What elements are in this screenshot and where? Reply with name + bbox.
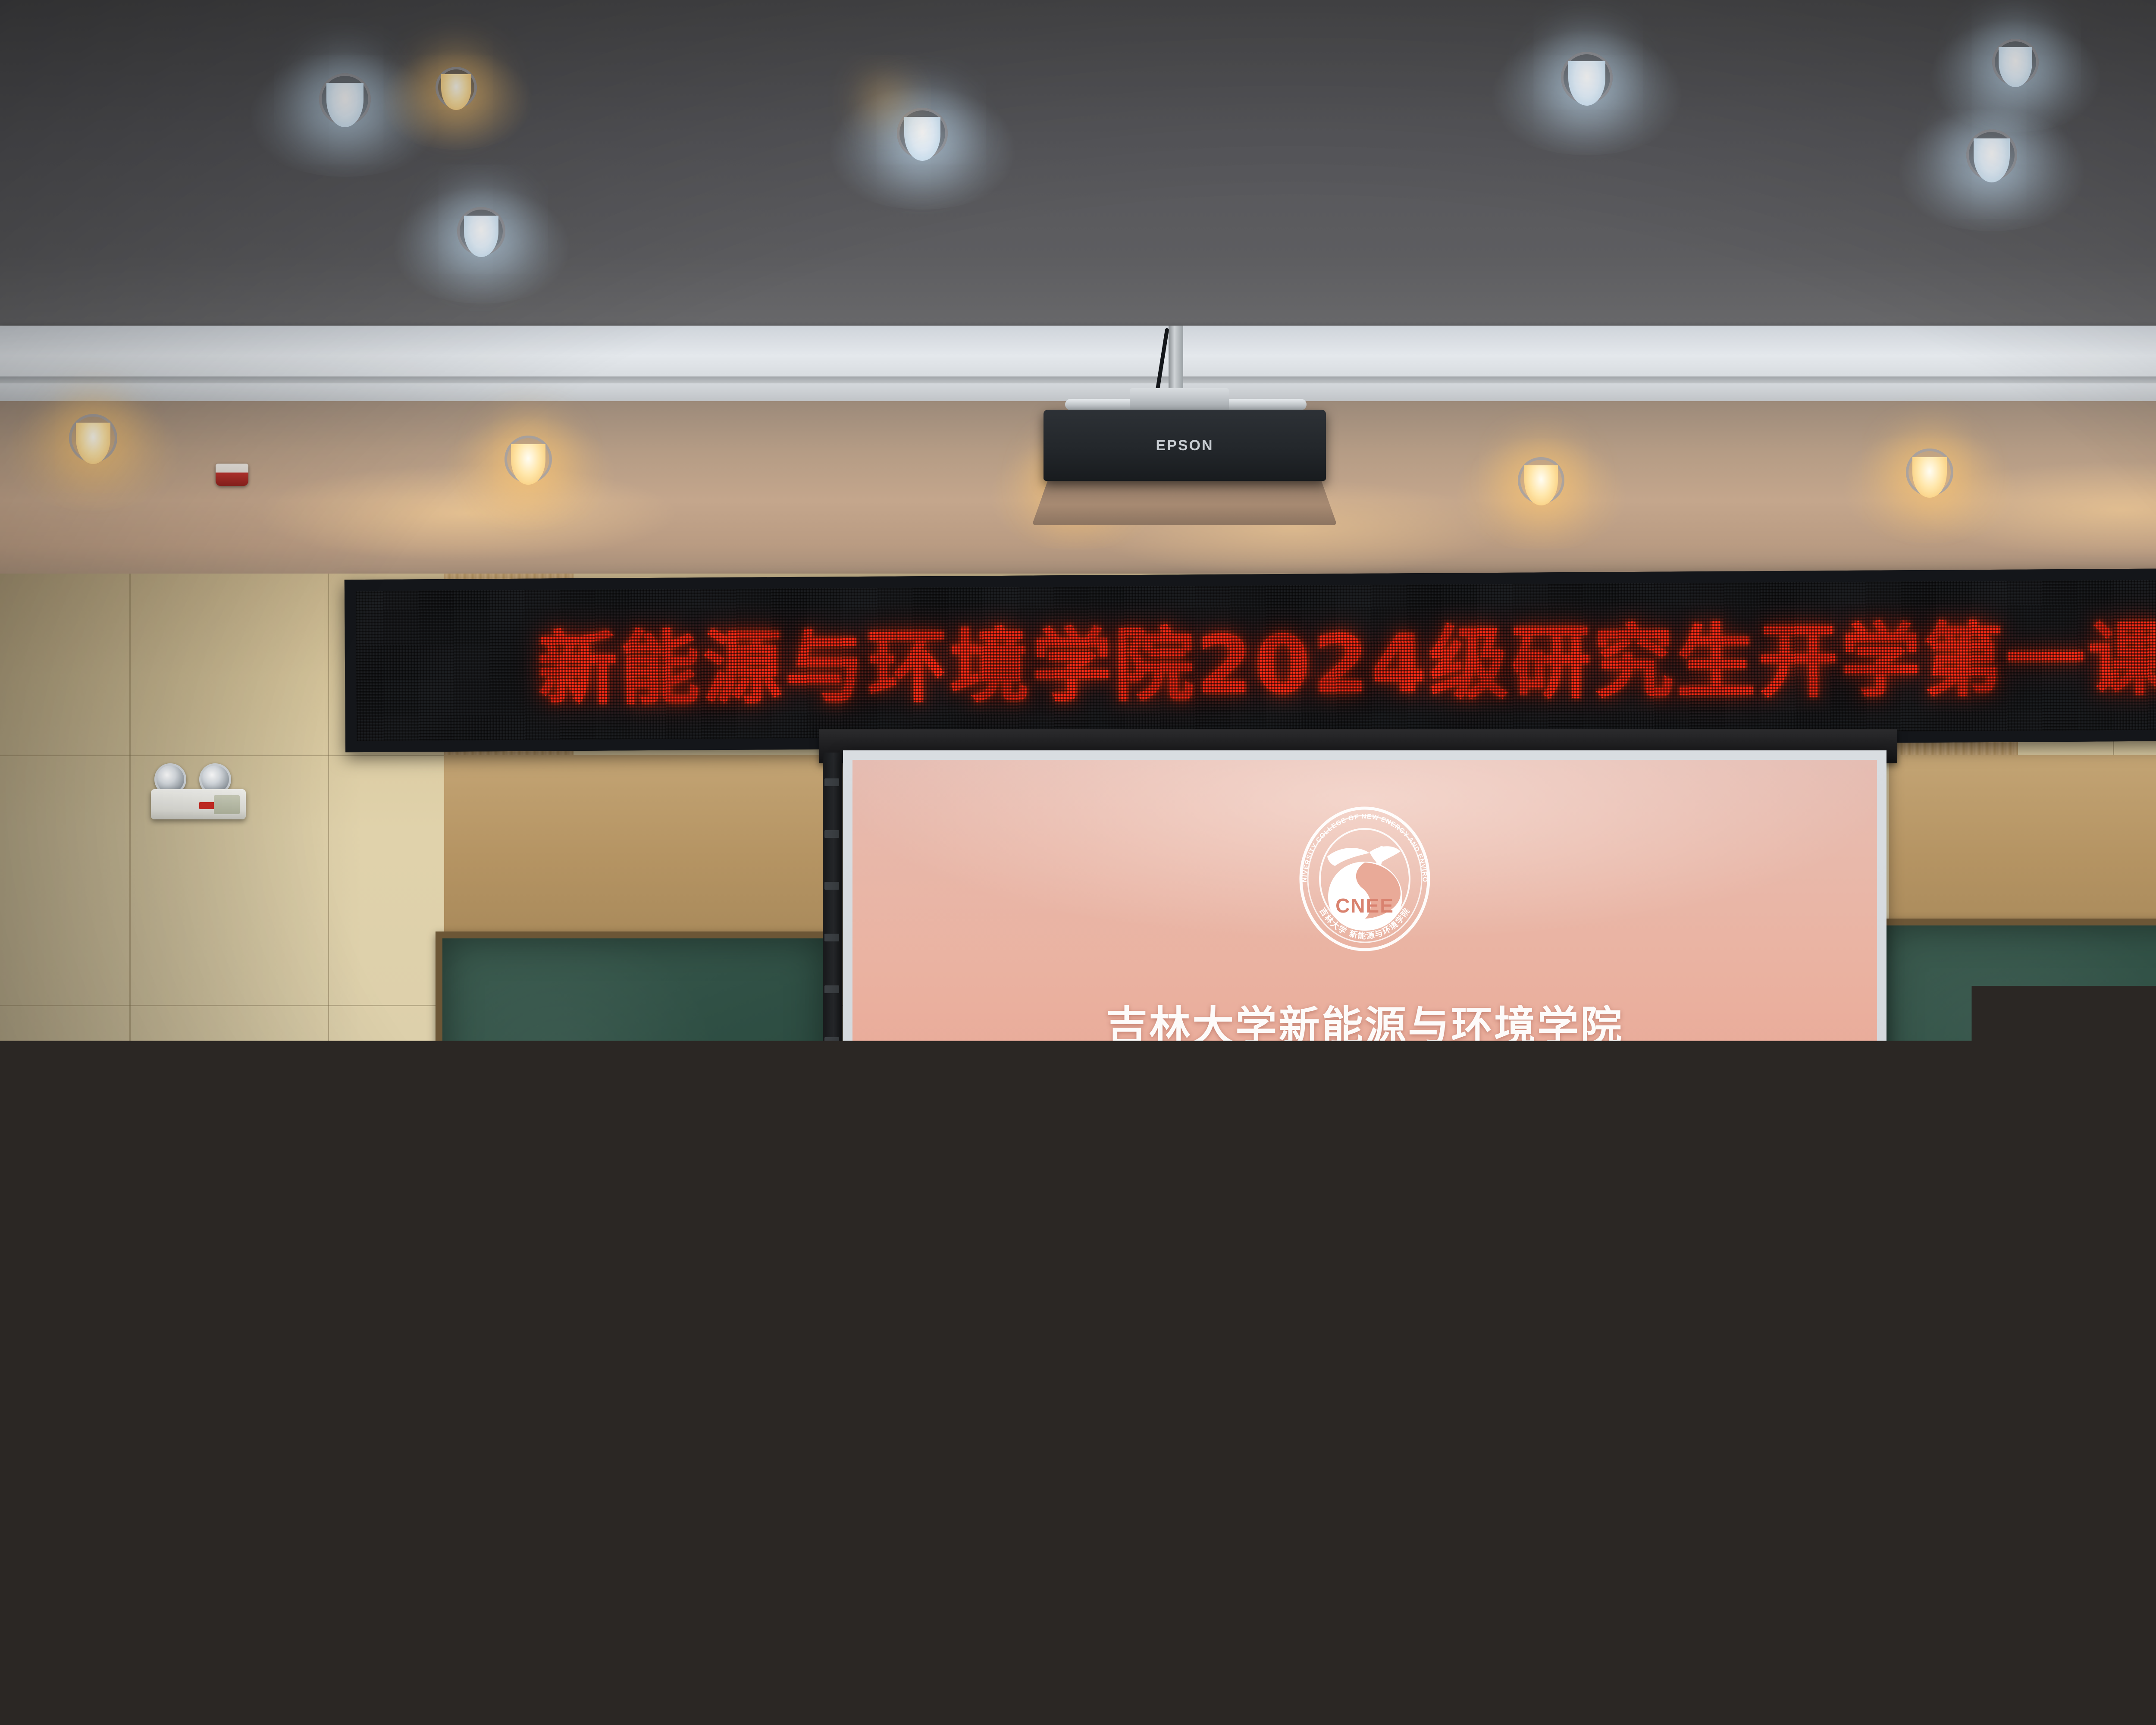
ceiling-light-cool xyxy=(1561,52,1613,103)
campus-building-illustration xyxy=(852,1192,1877,1377)
presenter-watch xyxy=(2066,1323,2081,1334)
presenter-brow xyxy=(2049,1138,2068,1142)
lecture-hall-photo: EPSON 新能源与环境学院2024级研究生开学第一课 xyxy=(0,0,2156,1725)
ceiling-light-warm xyxy=(69,414,117,462)
slide-title: 吉林大学新能源与环境学院 xyxy=(852,993,1877,1053)
breaker-panel-left xyxy=(181,1164,280,1216)
ceiling-light-warm xyxy=(1518,457,1564,504)
slide-date: 2024年8月30日 xyxy=(852,1161,1877,1187)
projector-brand-label: EPSON xyxy=(1044,437,1326,454)
presenter-brow xyxy=(2012,1138,2031,1142)
presenter xyxy=(1927,1078,2156,1354)
presenter-eye xyxy=(2053,1148,2065,1152)
ceiling-light-cool xyxy=(1966,129,2017,180)
audience-shadow-overlay xyxy=(0,1436,2156,1725)
wood-panel-right xyxy=(1889,755,2156,940)
led-banner: 新能源与环境学院2024级研究生开学第一课 xyxy=(345,568,2156,753)
cnee-seal-logo: JILIN UNIVERSITY COLLEGE OF NEW ENERGY A… xyxy=(1294,801,1436,957)
ceiling-light-warm xyxy=(505,436,552,483)
wood-panel-left xyxy=(444,755,824,940)
ceiling-light-warm xyxy=(436,67,477,108)
presenter-mouth xyxy=(2024,1170,2052,1181)
ceiling-beam-groove xyxy=(0,376,2156,383)
screen-roller-track xyxy=(823,753,843,1425)
fire-alarm-device xyxy=(216,464,248,486)
presenter-bracelet xyxy=(2052,1322,2063,1329)
emergency-light-left xyxy=(151,763,246,819)
led-banner-text: 新能源与环境学院2024级研究生开学第一课 xyxy=(537,594,2156,720)
ceiling-light-cool xyxy=(457,207,505,255)
chalkboard-left xyxy=(436,931,832,1410)
led-banner-screen: 新能源与环境学院2024级研究生开学第一课 xyxy=(356,579,2156,741)
ceiling-light-cool xyxy=(897,108,948,159)
ceiling-light-cool xyxy=(319,73,371,125)
slide-subtitle: 2024级研究生开学第一课 xyxy=(852,1066,1877,1126)
projected-slide: JILIN UNIVERSITY COLLEGE OF NEW ENERGY A… xyxy=(852,760,1877,1414)
ceiling-light-cool xyxy=(1992,39,2039,85)
ceiling-projector: EPSON xyxy=(1044,410,1326,481)
ceiling-rear xyxy=(0,0,2156,341)
ceiling-light-warm xyxy=(1906,448,1953,496)
projector-bracket xyxy=(1130,388,1229,412)
svg-text:CNEE: CNEE xyxy=(1335,894,1394,917)
projector-underside xyxy=(1032,478,1337,525)
projection-screen: JILIN UNIVERSITY COLLEGE OF NEW ENERGY A… xyxy=(843,750,1887,1423)
presenter-fringe xyxy=(1992,1094,2087,1142)
presenter-eye xyxy=(2015,1148,2028,1152)
